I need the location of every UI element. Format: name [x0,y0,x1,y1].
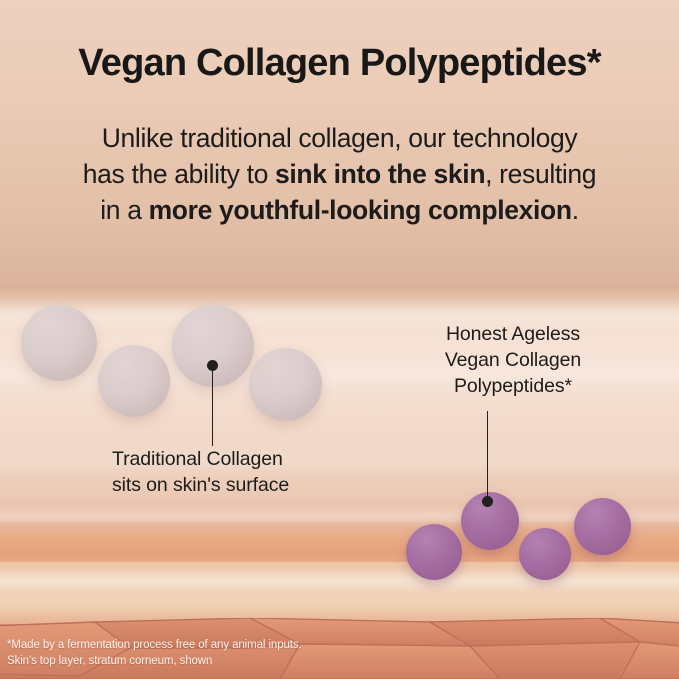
traditional-molecule-1 [21,305,97,381]
callout-vegan-polypeptides: Honest Ageless Vegan Collagen Polypeptid… [413,322,613,400]
leader-line-traditional [212,368,214,446]
subtitle-line-2-c: , resulting [485,159,596,189]
subtitle-line-1: Unlike traditional collagen, our technol… [0,120,679,156]
subtitle-emphasis-complexion: more youthful-looking complexion [149,195,572,225]
traditional-molecule-2 [98,345,170,417]
subtitle-emphasis-sink: sink into the skin [275,159,485,189]
subtitle-line-3: in a more youthful-looking complexion. [0,192,679,228]
vegan-molecule-1 [406,524,462,580]
page-title: Vegan Collagen Polypeptides* [0,44,679,84]
infographic-canvas: Vegan Collagen Polypeptides* Unlike trad… [0,0,679,679]
subtitle-line-2: has the ability to sink into the skin, r… [0,156,679,192]
vegan-molecule-3 [519,528,571,580]
subtitle-line-3-a: in a [100,195,148,225]
subtitle: Unlike traditional collagen, our technol… [0,120,679,228]
subtitle-line-2-a: has the ability to [83,159,275,189]
leader-dot-traditional [207,360,218,371]
leader-dot-vegan [482,496,493,507]
callout-traditional-collagen: Traditional Collagen sits on skin's surf… [112,447,289,499]
subtitle-line-3-c: . [572,195,579,225]
vegan-molecule-4 [574,498,631,555]
footnote-text: *Made by a fermentation process free of … [7,637,302,670]
leader-line-vegan [487,411,489,502]
traditional-molecule-4 [249,348,322,421]
